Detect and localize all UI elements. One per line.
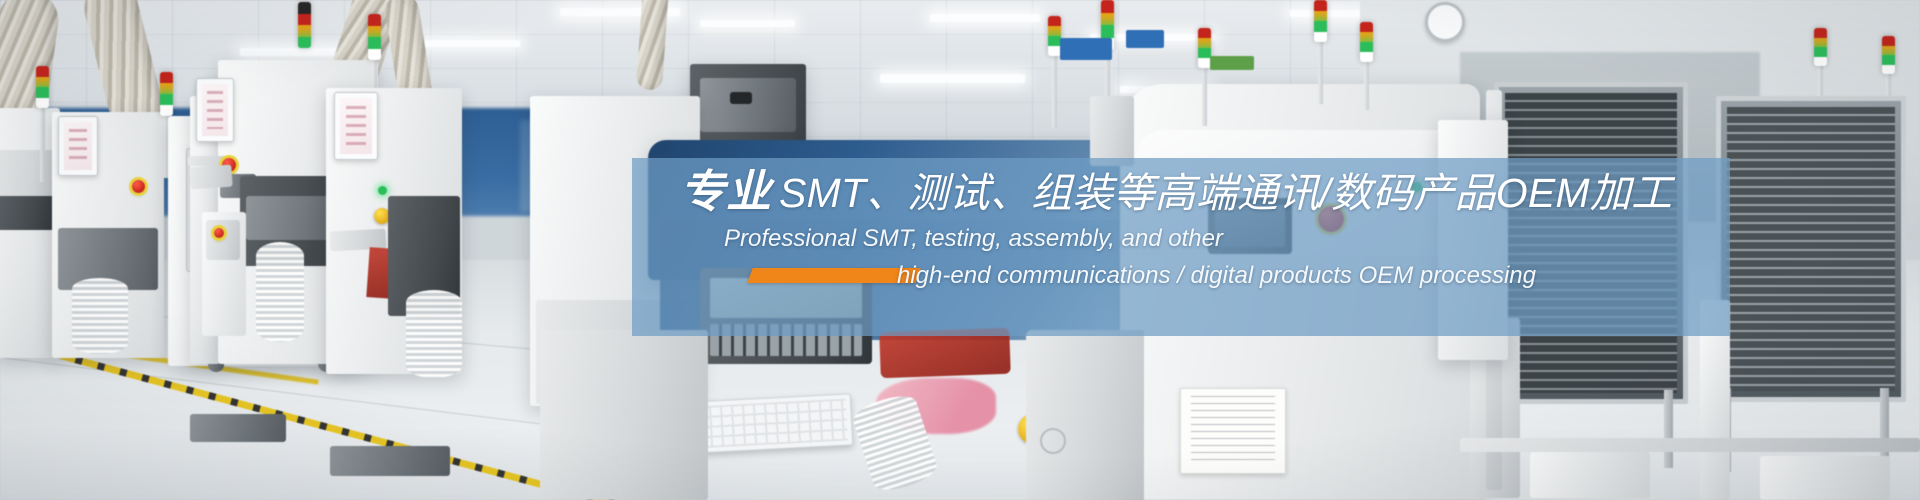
hmi-screen (196, 78, 234, 142)
ceiling-sign-green (1210, 56, 1254, 70)
andon-tower-light (1882, 36, 1895, 74)
rack-leg (1664, 390, 1673, 468)
headline-emphasis: 专业 (680, 166, 779, 217)
tower-light-pole (1364, 58, 1369, 110)
andon-tower-light (298, 2, 311, 48)
hero-subtitle-line-2: high-end communications / digital produc… (897, 262, 1536, 290)
hero-text-overlay: 专业SMT、测试、组装等高端通讯/数码产品OEM加工 Professional … (632, 158, 1730, 336)
rack-base-rail (1460, 438, 1920, 452)
machine-hood (700, 78, 796, 132)
ceiling-lamp (420, 40, 520, 47)
control-panel (206, 220, 240, 260)
orange-accent-bar (747, 268, 920, 283)
floor-equipment (1530, 452, 1650, 498)
tower-light-pole (1318, 34, 1323, 104)
hero-headline: 专业SMT、测试、组装等高端通讯/数码产品OEM加工 (680, 168, 1672, 215)
status-led-green (378, 186, 387, 195)
background-machine (1090, 96, 1134, 166)
cable-bundle (72, 278, 128, 354)
andon-tower-light (1314, 0, 1327, 42)
metal-pallet (190, 414, 286, 442)
andon-tower-light (1360, 22, 1373, 62)
ceiling-sign (1126, 30, 1164, 48)
storage-rack (1716, 96, 1906, 402)
hmi-screen (58, 116, 98, 176)
hero-banner: 专业SMT、测试、组装等高端通讯/数码产品OEM加工 Professional … (0, 0, 1920, 500)
emergency-stop-button (214, 228, 224, 238)
machine-base (540, 330, 708, 500)
ceiling-lamp (700, 20, 795, 27)
emergency-stop-button (132, 180, 145, 193)
machine-cabinet (0, 108, 60, 358)
cable-bundle (256, 242, 304, 342)
tower-light-pole (1052, 52, 1057, 128)
cable-bundle (406, 290, 462, 378)
metal-pallet (330, 446, 450, 476)
andon-tower-light (36, 66, 49, 108)
process-sheet (1180, 388, 1286, 474)
wall-clock-icon (1425, 2, 1465, 42)
tower-light-pole (1202, 64, 1207, 126)
andon-tower-light (368, 14, 381, 60)
machine-tray (189, 165, 232, 190)
floor-equipment (1760, 456, 1890, 500)
machine-window (0, 196, 54, 230)
machine-vent (730, 92, 752, 104)
rotary-knob (1040, 428, 1066, 454)
oven-side-cabinet (1026, 330, 1144, 500)
andon-tower-light (160, 72, 173, 116)
headline-rest: SMT、测试、组装等高端通讯/数码产品OEM加工 (779, 170, 1672, 216)
ceiling-sign (1060, 38, 1112, 60)
hmi-screen (334, 92, 378, 160)
ceiling-lamp (880, 74, 1025, 83)
hero-subtitle-line-1: Professional SMT, testing, assembly, and… (724, 225, 1223, 253)
andon-tower-light (1814, 28, 1827, 66)
ceiling-lamp (930, 14, 1040, 22)
